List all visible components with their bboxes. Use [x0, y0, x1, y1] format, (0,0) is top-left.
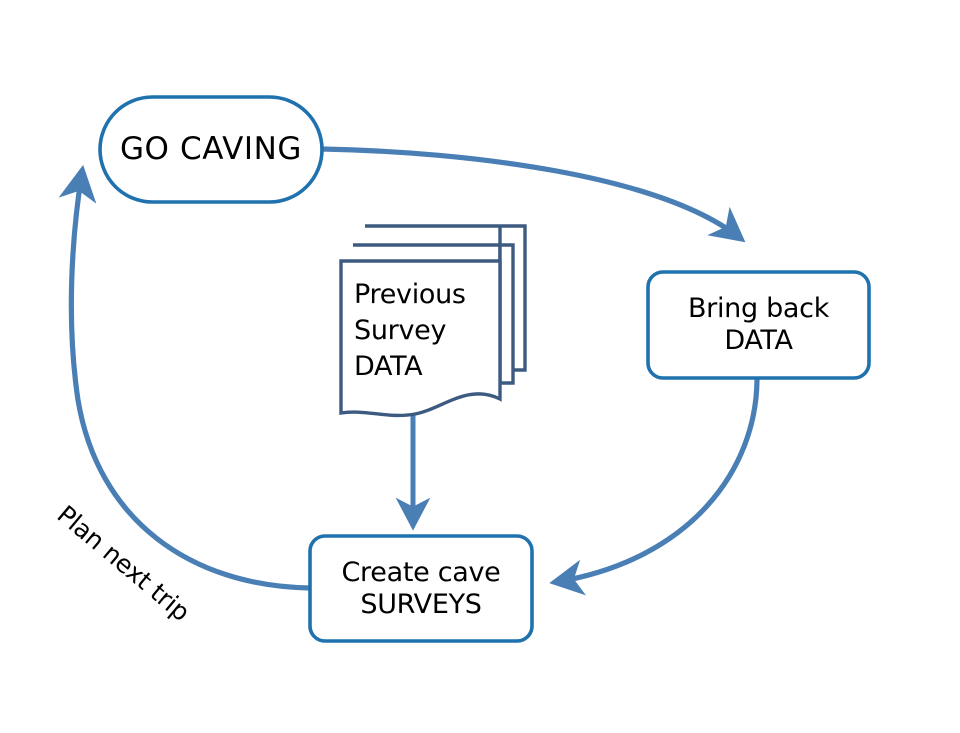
diagram-graphics	[0, 0, 960, 720]
node-shape-bring-back-data	[648, 272, 869, 378]
edge-path-data-to-surveys	[556, 378, 757, 582]
node-previous-survey-data[interactable]	[341, 226, 525, 415]
node-create-cave-surveys[interactable]	[310, 536, 532, 641]
diagram-canvas: GO CAVING Bring back DATA Create cave SU…	[0, 0, 960, 720]
node-shape-create-cave-surveys	[310, 536, 532, 641]
node-bring-back-data[interactable]	[648, 272, 869, 378]
edge-path-surveys-to-caving	[71, 172, 310, 588]
node-shape-go-caving	[100, 97, 322, 202]
document-sheet-front	[341, 261, 500, 415]
edge-create-cave-surveys-to-go-caving	[71, 172, 310, 588]
edge-bring-back-data-to-create-cave-surveys	[556, 378, 757, 582]
node-go-caving[interactable]	[100, 97, 322, 202]
